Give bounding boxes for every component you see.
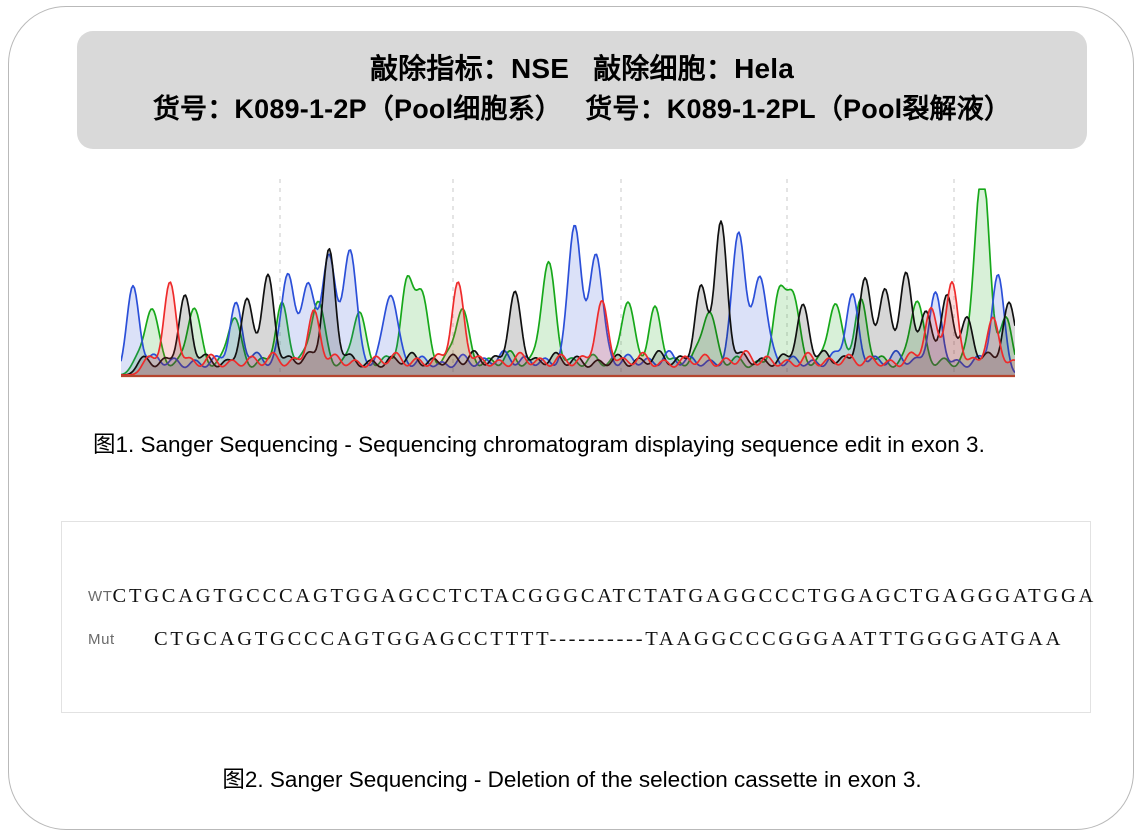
figure2-caption: 图2. Sanger Sequencing - Deletion of the … [9, 762, 1134, 794]
header-title-line-1: 敲除指标：NSE 敲除细胞：Hela [370, 49, 794, 89]
header-title-line-2: 货号：K089-1-2P（Pool细胞系） 货号：K089-1-2PL（Pool… [153, 89, 1011, 129]
alignment-sequence-mut: CTGCAGTGCCCAGTGGAGCCTTTT----------TAAGGC… [154, 628, 1063, 651]
chromatogram-plot [121, 175, 1015, 397]
figure1-caption: 图1. Sanger Sequencing - Sequencing chrom… [93, 427, 985, 459]
alignment-label-mut: Mut [62, 631, 154, 648]
alignment-card: WT CTGCAGTGCCCAGTGGAGCCTCTACGGGCATCTATGA… [61, 521, 1091, 713]
alignment-label-wt: WT [62, 588, 113, 605]
report-card: 敲除指标：NSE 敲除细胞：Hela 货号：K089-1-2P（Pool细胞系）… [8, 6, 1134, 830]
header-banner: 敲除指标：NSE 敲除细胞：Hela 货号：K089-1-2P（Pool细胞系）… [77, 31, 1087, 149]
chromatogram-figure [121, 175, 1015, 397]
alignment-row-mut: Mut CTGCAGTGCCCAGTGGAGCCTTTT----------TA… [62, 624, 1090, 654]
alignment-sequence-wt: CTGCAGTGCCCAGTGGAGCCTCTACGGGCATCTATGAGGC… [113, 585, 1097, 608]
alignment-row-wt: WT CTGCAGTGCCCAGTGGAGCCTCTACGGGCATCTATGA… [62, 581, 1090, 611]
